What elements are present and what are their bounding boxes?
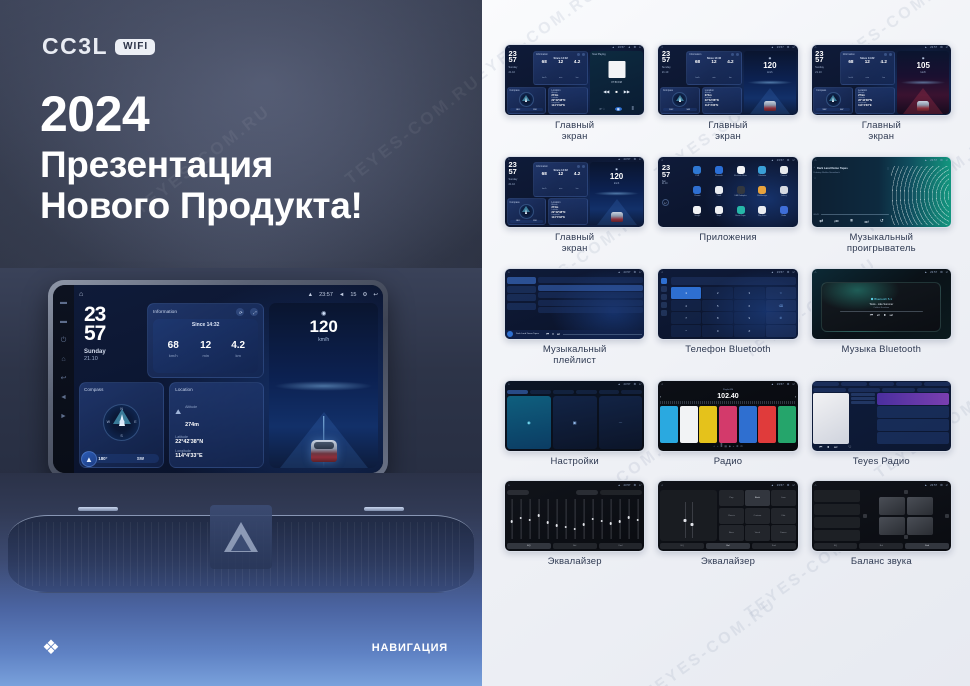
wifi-icon: ▲ [771, 270, 774, 274]
key-star: * [671, 325, 702, 337]
power-icon: ⏻ [741, 445, 743, 448]
dial-keypad[interactable]: 1 2 3 ☆ 4 5 6 ⌫ 7 8 9 ✆ [671, 287, 796, 338]
volume-down-button[interactable]: ◄ [60, 394, 67, 401]
speed-unit: km/h [318, 337, 329, 343]
information-header: Information ⟳ ⤢ [153, 308, 258, 316]
dab-radio-icon[interactable] [737, 186, 745, 194]
list-icon: ≣ [720, 445, 722, 448]
app-item: DAB Radioplus [730, 186, 751, 204]
next-station-icon[interactable]: › [795, 394, 796, 399]
mini-speed-unit: km/h [614, 182, 619, 185]
headline-line-2: Нового Продукта! [40, 185, 363, 226]
preset-7 [778, 406, 796, 443]
keypad-icon [661, 278, 667, 284]
balance-presets[interactable] [814, 490, 860, 541]
play-store-icon[interactable] [758, 206, 766, 214]
teyes-radio-tabs[interactable] [813, 382, 949, 386]
mini-speed-value: 120 [763, 62, 776, 70]
stat-unit: km [222, 353, 254, 358]
radio-band: Playlist FM [660, 389, 796, 391]
stat-unit: km/h [157, 353, 189, 358]
stat-value: 68 [157, 341, 189, 351]
gallery-item[interactable]: ⌂▲23:57⚙↩ Dark Land Demo Tapes ⏮ ⏸ ⏭ [504, 268, 645, 374]
screen-thumbnail-bt-phone[interactable]: ⌂▲23:57⚙↩ 1 2 3 ☆ 4 5 [657, 268, 798, 340]
radio-toolbar[interactable]: ⌂⌕≣▤◈⌁⚙⏻ [660, 444, 796, 449]
logo-model-text: CC3L [42, 33, 108, 60]
band-icon: ◈ [729, 445, 731, 448]
favorite-icon: ☆ [766, 287, 797, 299]
home-icon: ⌂ [508, 483, 510, 487]
balance-footer[interactable]: EQBalFad [814, 543, 949, 549]
power-button[interactable]: ⏻ [61, 337, 67, 344]
mini-location-card: Location Altitude274m Latitude22°42'38"N… [548, 87, 588, 114]
bass-treble-sliders[interactable] [660, 490, 717, 541]
trip-stats-panel: Since 14:32 68 km/h 12 [153, 319, 258, 373]
preset-button: Bass [719, 525, 744, 541]
app-grid[interactable]: DVR Bluetooth Bluetooth Music Calculator… [685, 165, 796, 225]
mountain-icon: ⛰ [175, 409, 181, 417]
bt-music-body: ⬢ Bluetooth 5.1 Toots - Like Summer Cold… [812, 276, 951, 339]
equalizer2-footer[interactable]: EQBalFad [660, 543, 795, 549]
mini-drive-pane-red: ◉ 105 km/h [897, 51, 950, 114]
home-icon: ⌂ [815, 483, 817, 487]
prev-icon: ⏮ [835, 219, 839, 224]
head-unit-bezel: ▬ ▬ ⏻ ⌂ ↩ ◄ ► ⌂ ▲ 23:57 ◄ 15 [48, 280, 388, 478]
stat-value: 12 [189, 341, 221, 351]
horizon-glow [269, 381, 378, 391]
vent-control-left [78, 507, 118, 511]
gallery-caption: Радио [714, 457, 742, 468]
screen-thumbnail-home-3[interactable]: ⌂▲23:57⚙↩ 2357Sunday21.10 InformationSin… [811, 44, 952, 116]
gallery-icon[interactable] [780, 186, 788, 194]
preset-button: Classic [719, 508, 744, 524]
preset-1 [660, 406, 678, 443]
mini-drive-pane: ◉ 120 km/h [744, 51, 797, 114]
car-model-graphic [917, 101, 929, 111]
phone-number-field[interactable] [671, 277, 796, 285]
progress-bar[interactable] [563, 334, 642, 335]
maps-icon[interactable] [715, 206, 723, 214]
screen-thumbnail-teyes-radio[interactable]: ⏮⏹⏭♡ [811, 380, 952, 452]
gallery-item[interactable]: ⌂▲23:57⚙↩ 2357Sunday21.10 InformationSin… [657, 44, 798, 150]
app-item: Play Store [752, 206, 773, 224]
settings-tiles[interactable]: ◉▣⋯ [507, 396, 642, 449]
bluetooth-icon[interactable] [715, 166, 723, 174]
mode-pill[interactable] [576, 490, 598, 495]
trip-stat: 68 km/h [157, 341, 189, 358]
compass-west-label: W [107, 420, 110, 424]
playlist-minibar[interactable]: Dark Land Demo Tapes ⏮ ⏸ ⏭ [505, 330, 644, 339]
screen-thumbnail-home-2[interactable]: ⌂▲23:57⚙↩ 2357Sunday21.10 InformationSin… [657, 44, 798, 116]
app-item: Music Player [730, 206, 751, 224]
chrome-icon[interactable] [693, 186, 701, 194]
tab-monitor [599, 390, 620, 395]
clock-minutes: 57 [84, 324, 142, 343]
arrow-right-icon[interactable] [945, 514, 949, 518]
screen-thumbnail-settings[interactable]: ⌂▲23:57⚙↩ ◉▣⋯ [504, 380, 645, 452]
prev-icon: ⏮ [819, 445, 822, 449]
back-icon: ↩ [792, 270, 794, 274]
screen-thumbnail-playlist[interactable]: ⌂▲23:57⚙↩ Dark Land Demo Tapes ⏮ ⏸ ⏭ [504, 268, 645, 340]
arrow-up-icon[interactable] [904, 490, 908, 494]
gallery-item[interactable]: ⏮⏹⏭♡ Teyes Радио [811, 380, 952, 475]
compass-dial-wrap: N S W E [84, 392, 159, 452]
play-pause-icon[interactable]: ⏸ [552, 332, 554, 336]
gallery-caption: Баланс звука [851, 557, 912, 568]
preset-button: Pop [719, 490, 744, 506]
next-icon[interactable]: ⏭ [557, 332, 560, 336]
tab-display [576, 390, 597, 395]
shuffle-icon: ⇄ [819, 218, 823, 224]
compass-north-label: N [120, 407, 123, 411]
more-icon[interactable]: ⋮ [886, 166, 889, 170]
visualizer [891, 166, 949, 225]
app-item: FileManager [752, 186, 773, 204]
mini-compass-card: Compass 180°SW [507, 87, 547, 114]
gallery-item[interactable]: ⌂▲23:57⚙↩ 1 2 3 ☆ 4 5 [657, 268, 798, 374]
trip-stats: 68 km/h 12 min [157, 328, 254, 370]
compass-hub [119, 420, 124, 425]
screen-thumbnail-music-player[interactable]: ⌂▲23:57⚙↩ ♪Dark Land Demo Tapes⋮ Dubstep… [811, 156, 952, 228]
mini-home-left: 2357Sunday21.10 Information Since 14:32 … [507, 51, 589, 114]
back-icon: ↩ [792, 158, 794, 162]
key-6: 6 [734, 300, 765, 312]
preset-4 [719, 406, 737, 443]
home-icon[interactable]: ⌂ [79, 291, 83, 298]
dvr-icon[interactable] [693, 166, 701, 174]
speaker-rr [907, 517, 933, 535]
wifi-icon: ▲ [924, 158, 927, 162]
gallery-item[interactable]: ⌂▲23:57⚙↩ 2357Sunday21.10 InformationSin… [811, 44, 952, 150]
heart-icon: ♡ [848, 445, 851, 449]
trip-stat: 4.2 km [222, 341, 254, 358]
gallery-item[interactable]: ⌂▲23:57⚙↩ 2357Sunday21.10 InformationSin… [504, 156, 645, 262]
next-icon: ⏭ [864, 219, 868, 224]
prev-station-icon[interactable]: ‹ [660, 394, 661, 399]
home-icon: ⌂ [815, 270, 817, 274]
volume-up-button[interactable]: ► [60, 413, 67, 420]
speed-icon: ◉ [321, 310, 326, 317]
gear-icon: ⚙ [787, 382, 790, 386]
elapsed-time: 00:41 [814, 214, 819, 216]
mini-speed-unit: km/h [767, 71, 772, 74]
clock-icon[interactable] [715, 186, 723, 194]
balance-tab: Bal [859, 543, 903, 549]
location-widget[interactable]: Location ⛰ Altitude 274m [169, 382, 264, 468]
bluetooth-music-icon[interactable] [737, 166, 745, 174]
logo-wifi-badge: WIFI [115, 39, 155, 55]
calculator-icon[interactable] [758, 166, 766, 174]
wifi-icon: ▲ [308, 292, 313, 298]
teyes-radio-body[interactable]: ⏮⏹⏭♡ [812, 381, 951, 451]
preset-bar[interactable] [600, 490, 643, 495]
clock-weekday: Sunday [84, 349, 142, 355]
screen-thumbnail-home-1[interactable]: ⌂▲23:57◄⚙↩ 2357Sunday21.10 Information S… [504, 44, 645, 116]
bt-music-controls[interactable]: ⏮⏯⏹⏭ [870, 313, 893, 317]
equalizer-header[interactable] [507, 490, 642, 495]
fader-tab: Fad [599, 543, 643, 549]
gallery-item[interactable]: ⌂▲23:57⚙↩ ◉▣⋯ Настройки [504, 380, 645, 475]
eq-band [580, 497, 587, 542]
car-model-graphic [311, 440, 337, 462]
preset-button: Flat [771, 508, 796, 524]
eq-tab: EQ [660, 543, 704, 549]
back-icon: ↩ [946, 158, 948, 162]
gallery-item[interactable]: ⌂▲23:57⚙↩ Playlist FM ‹ 102.40 › [657, 380, 798, 475]
app-item: Maps [709, 206, 730, 224]
status-bar: ⌂ ▲ 23:57 ◄ 15 ⚙ ↩ [79, 289, 378, 300]
altitude-label: Altitude [185, 405, 197, 409]
wifi-icon: ▲ [924, 483, 927, 487]
gallery-item[interactable]: ⌂▲23:57⚙↩ EQBalFad [811, 480, 952, 575]
expand-icon[interactable]: ⤢ [250, 308, 258, 316]
eq-band [625, 497, 632, 542]
gear-icon: ⚙ [633, 270, 636, 274]
volume-icon: ◄ [339, 292, 344, 298]
speed-icon: ◉ [615, 167, 618, 171]
clock-widget[interactable]: 23 57 Sunday 21.10 [79, 303, 142, 378]
arrow-left-icon[interactable] [863, 514, 867, 518]
tab-sound [530, 390, 551, 395]
stop-icon: ⏹ [884, 313, 886, 317]
teyes-radio-controls[interactable]: ⏮⏹⏭♡ [813, 445, 949, 449]
camera-icon[interactable] [780, 166, 788, 174]
eq-band [562, 497, 569, 542]
tab-theme [553, 390, 574, 395]
speaker-fr [907, 497, 933, 515]
longitude-row: Longitude 114°4'33"E [175, 449, 258, 459]
gallery-item[interactable]: ⌂▲23:57⚙↩ [504, 480, 645, 575]
dialer-body[interactable]: 1 2 3 ☆ 4 5 6 ⌫ 7 8 9 ✆ [658, 276, 797, 339]
preset-button: Dance [771, 525, 796, 541]
screen-thumbnail-bt-music[interactable]: ⌂▲23:57⚙↩ ⬢ Bluetooth 5.1 Toots - Like S… [811, 268, 952, 340]
search-icon [661, 294, 667, 300]
arrow-down-icon[interactable] [904, 535, 908, 539]
app-item: Radio [774, 206, 795, 224]
screen-thumbnail-balance[interactable]: ⌂▲23:57⚙↩ EQBalFad [811, 480, 952, 552]
compass-south-label: S [120, 434, 122, 438]
mini-clock: 23 57 Sun 21.10 ↩ [660, 165, 683, 225]
app-item: Chrome [687, 186, 708, 204]
headline-line-1: Презентация [40, 144, 363, 185]
radio-body[interactable]: Playlist FM ‹ 102.40 › [658, 388, 797, 451]
player-info: ♪Dark Land Demo Tapes⋮ Dubstep Skrillex … [814, 166, 890, 225]
station-list[interactable] [877, 393, 949, 444]
settings-tabs[interactable] [507, 390, 642, 395]
back-button[interactable]: ↩ [61, 375, 67, 382]
preset-button: Rock [745, 490, 770, 506]
home-icon: ⌂ [508, 270, 510, 274]
status-time: 23:57 [319, 292, 333, 298]
information-actions[interactable]: ⟳ ⤢ [236, 308, 258, 316]
gallery-caption: Главныйэкран [708, 121, 747, 143]
hero-panel: TEYES-COM.RU TEYES-COM.RU TEYES-COM.RU T… [0, 0, 482, 686]
app-item: Bluetooth Music [730, 166, 751, 184]
screen-thumbnail-radio[interactable]: ⌂▲23:57⚙↩ Playlist FM ‹ 102.40 › [657, 380, 798, 452]
eq-tab: EQ [507, 543, 551, 549]
mute-button[interactable]: ▬ [60, 299, 67, 306]
key-0: 0 [702, 325, 733, 337]
latitude-row: Latitude 22°42'38"N [175, 435, 258, 445]
google-icon[interactable] [693, 206, 701, 214]
stop-icon: ⏹ [827, 445, 829, 449]
next-icon: ⏭ [890, 313, 893, 317]
speed-icon: ◉ [769, 56, 772, 60]
balance-body[interactable] [812, 488, 951, 543]
speed-icon: ◉ [922, 56, 925, 60]
play-pause-icon: ⏯ [877, 313, 880, 317]
equalizer-body[interactable]: EQBalFad [505, 488, 644, 551]
search-icon: ⌕ [717, 445, 718, 448]
gallery-item[interactable]: ⌂▲23:57⚙↩ ♪Dark Land Demo Tapes⋮ Dubstep… [811, 156, 952, 262]
gallery-item[interactable]: ⌂▲23:57⚙↩ 23 57 Sun 21.10 ↩ DVR Bluetoot… [657, 156, 798, 262]
tile-more[interactable]: ⋯ [599, 396, 643, 449]
gallery-caption: Телефон Bluetooth [685, 345, 771, 356]
playlist-categories[interactable] [507, 277, 537, 328]
compass-east-label: E [134, 420, 136, 424]
layers-icon: ❖ [42, 638, 60, 658]
wifi-icon: ▲ [771, 382, 774, 386]
backspace-icon: ⌫ [766, 300, 797, 312]
mini-information-card: Information Since 14:32 68km/h12min4.2km [533, 51, 588, 86]
home-icon: ⌂ [661, 270, 663, 274]
gallery-caption: Эквалайзер [548, 557, 602, 568]
screen-thumbnail-home-4[interactable]: ⌂▲23:57⚙↩ 2357Sunday21.10 InformationSin… [504, 156, 645, 228]
radio-icon[interactable] [780, 206, 788, 214]
tile-wifi[interactable]: ◉ [507, 396, 551, 449]
eq-band [607, 497, 614, 542]
dialer-sidebar[interactable] [660, 277, 669, 337]
radio-presets[interactable] [660, 406, 796, 443]
equalizer-footer[interactable]: EQBalFad [507, 543, 642, 549]
speed-value: 120 [310, 318, 338, 335]
gallery-caption: Музыка Bluetooth [842, 345, 922, 356]
playlist-tracks[interactable] [538, 277, 643, 328]
back-icon: ↩ [946, 270, 948, 274]
screen-thumbnail-equalizer-1[interactable]: ⌂▲23:57⚙↩ [504, 480, 645, 552]
location-title: Location [175, 387, 258, 392]
station-meta [851, 393, 876, 444]
tab-system [621, 390, 642, 395]
slider-bass [685, 502, 686, 538]
home-icon: ⌂ [661, 382, 663, 386]
screen-thumbnail-equalizer-2[interactable]: ⌂▲23:57⚙↩ Pop Rock Jazz Classic Custom [657, 480, 798, 552]
preset-6 [758, 406, 776, 443]
bluetooth-icon: ⬢ Bluetooth 5.1 [871, 297, 892, 301]
key-8: 8 [702, 312, 733, 324]
player-controls[interactable]: ⇄⏮⏸⏭↺ [814, 218, 890, 225]
speaker-grid[interactable] [879, 497, 933, 535]
balance-pad[interactable] [863, 490, 949, 541]
home-icon: ⌂ [661, 158, 663, 162]
gallery-caption: Главныйэкран [555, 233, 594, 255]
back-icon[interactable]: ↩ [373, 292, 378, 298]
vent-control-right [364, 507, 404, 511]
navigation-arrow-icon[interactable]: ▲ [81, 451, 97, 467]
screens-grid: ⌂▲23:57◄⚙↩ 2357Sunday21.10 Information S… [504, 44, 952, 575]
equalizer2-body[interactable]: Pop Rock Jazz Classic Custom Flat Bass V… [658, 488, 797, 543]
key-7: 7 [671, 312, 702, 324]
stat-value: 4.2 [222, 341, 254, 351]
eq-band [535, 497, 542, 542]
head-unit-screen[interactable]: ▬ ▬ ⏻ ⌂ ↩ ◄ ► ⌂ ▲ 23:57 ◄ 15 [53, 285, 383, 473]
eq-band [526, 497, 533, 542]
gallery-caption: Teyes Радио [853, 457, 910, 468]
preset-grid[interactable]: Pop Rock Jazz Classic Custom Flat Bass V… [719, 490, 796, 541]
compass-direction: SW [122, 456, 160, 461]
key-5: 5 [702, 300, 733, 312]
preset-button: Jazz [771, 490, 796, 506]
hazard-button[interactable] [210, 505, 272, 569]
gallery-item[interactable]: ⌂▲23:57⚙↩ ⬢ Bluetooth 5.1 Toots - Like S… [811, 268, 952, 374]
tab-wifi [507, 390, 528, 395]
eq-tab: EQ [814, 543, 858, 549]
clock-date: 21.10 [84, 356, 142, 362]
gear-icon[interactable]: ⚙ [362, 292, 367, 298]
equalizer-sliders[interactable] [507, 497, 642, 542]
gear-icon: ⚙ [940, 158, 943, 162]
heart-icon[interactable]: ♡ [814, 176, 890, 180]
prev-icon[interactable]: ⏮ [546, 332, 549, 336]
app-item: Calculator [752, 166, 773, 184]
mini-speed-unit: km/h [921, 71, 926, 74]
settings-body[interactable]: ◉▣⋯ [505, 388, 644, 451]
back-icon[interactable]: ↩ [662, 199, 669, 206]
gear-icon: ⚙ [633, 382, 636, 386]
information-widget[interactable]: Information ⟳ ⤢ Since 14:32 [147, 303, 264, 378]
playlist-body[interactable] [505, 276, 644, 330]
eq-band [571, 497, 578, 542]
head-unit-side-buttons[interactable]: ▬ ▬ ⏻ ⌂ ↩ ◄ ► [53, 285, 74, 473]
preset-pill[interactable] [507, 490, 529, 495]
slider-treble [692, 502, 693, 538]
compass-and-location-row: Compass N S W [79, 382, 264, 468]
radio-scale[interactable] [660, 401, 796, 404]
tile-carplay[interactable]: ▣ [553, 396, 597, 449]
music-player-icon[interactable] [737, 206, 745, 214]
home-button[interactable]: ⌂ [61, 356, 65, 363]
refresh-icon[interactable]: ⟳ [236, 308, 244, 316]
filemanager-icon[interactable] [758, 186, 766, 194]
gear-icon: ⚙ [633, 483, 636, 487]
gallery-caption: Настройки [550, 457, 598, 468]
bt-device-name: Bluetooth 5.1 [874, 297, 892, 301]
stat-unit: min [189, 353, 221, 358]
progress-bar[interactable] [821, 214, 890, 215]
progress-bar[interactable] [840, 311, 922, 312]
bt-track-title: Toots - Like Summer [869, 303, 893, 306]
speaker-fl [879, 497, 905, 515]
screen-thumbnail-apps[interactable]: ⌂▲23:57⚙↩ 23 57 Sun 21.10 ↩ DVR Bluetoot… [657, 156, 798, 228]
call-icon: ✆ [766, 312, 797, 324]
teyes-radio-filters[interactable] [813, 388, 949, 392]
tune-icon: ⌁ [733, 445, 735, 448]
gallery-caption: Главныйэкран [862, 121, 901, 143]
car-model-graphic [611, 212, 623, 222]
album-art [813, 393, 848, 444]
status-bar-right: ▲ 23:57 ◄ 15 ⚙ ↩ [308, 292, 378, 298]
wifi-icon: ▲ [771, 158, 774, 162]
app-item: Clock [709, 186, 730, 204]
preset-2 [680, 406, 698, 443]
gallery-item[interactable]: ⌂▲23:57⚙↩ Pop Rock Jazz Classic Custom [657, 480, 798, 575]
key-4: 4 [671, 300, 702, 312]
gallery-item[interactable]: ⌂▲23:57◄⚙↩ 2357Sunday21.10 Information S… [504, 44, 645, 150]
eq-band [616, 497, 623, 542]
mode-button[interactable]: ▬ [60, 318, 67, 325]
driving-view-widget[interactable]: ◉ 120 km/h [269, 303, 378, 468]
radio-frequency: 102.40 [664, 393, 792, 400]
